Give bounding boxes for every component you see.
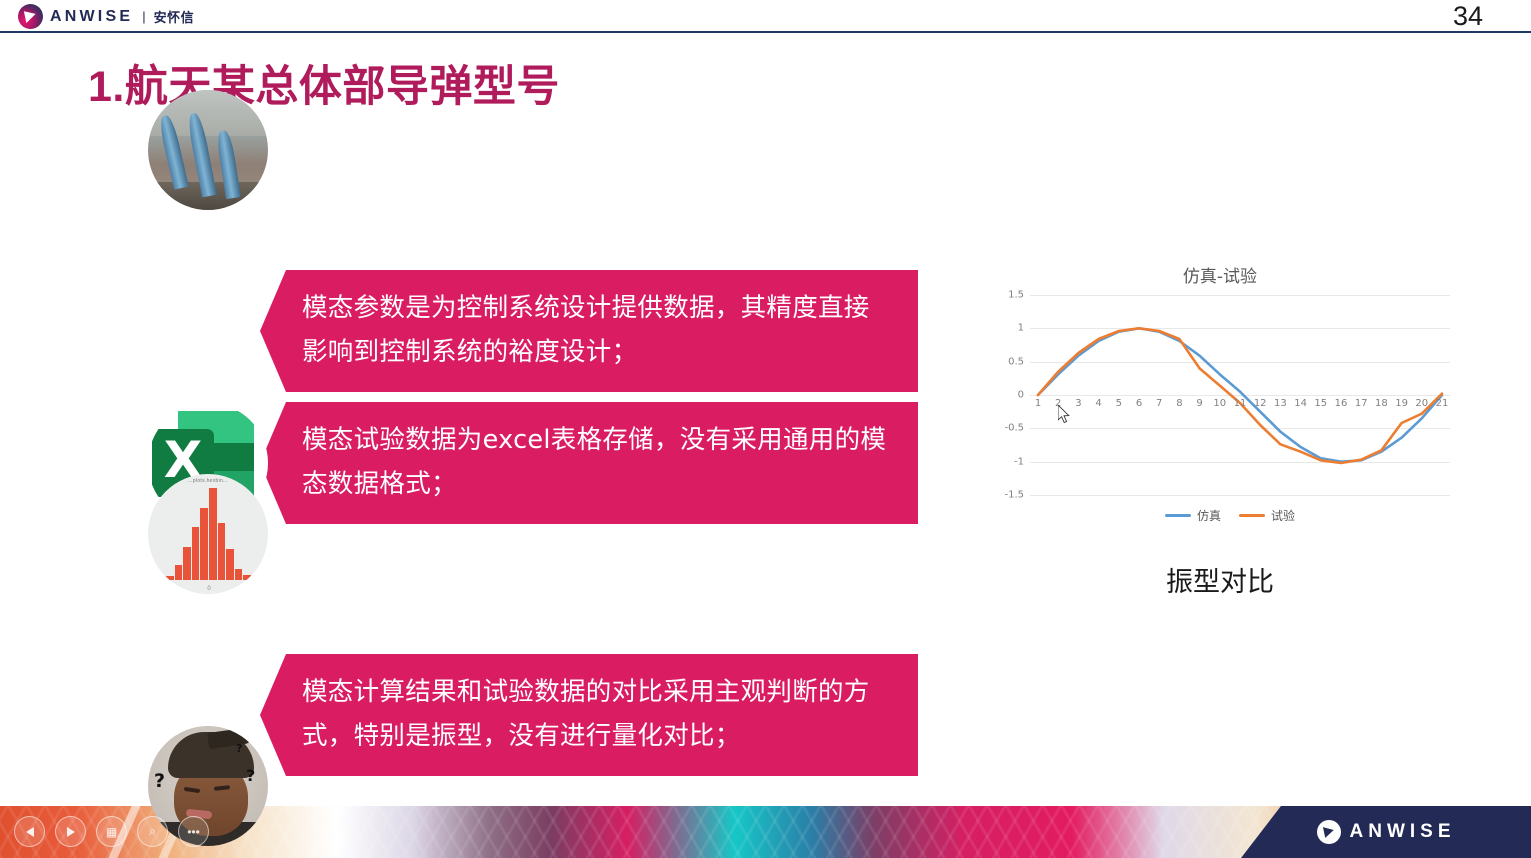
footer-brand: ANWISE [1241, 806, 1531, 858]
legend-swatch [1165, 514, 1191, 517]
histogram-bar [226, 549, 234, 580]
bullet-text: 模态试验数据为excel表格存储，没有采用通用的模态数据格式； [302, 418, 894, 506]
list-item: X 模态试验数据为excel表格存储，没有采用通用的模态数据格式； [148, 402, 918, 524]
histogram-bar [175, 565, 183, 580]
slideshow-button[interactable]: ▦ [96, 816, 127, 847]
chart-x-tick-label: 13 [1274, 398, 1287, 409]
bullet-banner: 模态试验数据为excel表格存储，没有采用通用的模态数据格式； [260, 402, 918, 524]
line-chart: 仿真-试验 1.510.50-0.5-1-1.5 123456789101112… [990, 262, 1450, 532]
chart-y-tick-label: -0.5 [1004, 423, 1024, 434]
bullet-text: 模态参数是为控制系统设计提供数据，其精度直接影响到控制系统的裕度设计； [302, 286, 894, 374]
chart-x-tick-label: 16 [1335, 398, 1348, 409]
legend-swatch [1239, 514, 1265, 517]
chart-legend: 仿真试验 [990, 507, 1450, 524]
histogram-bar [200, 508, 208, 580]
question-mark-icon: ? [154, 770, 165, 792]
chart-x-tick-label: 9 [1196, 398, 1202, 409]
histogram-chart-icon: ...plots.hexbin... -1 0 1 [148, 474, 268, 594]
chart-caption: 振型对比 [990, 560, 1450, 599]
histogram-icon-title: ...plots.hexbin... [148, 478, 268, 484]
missile-photo-icon [148, 90, 268, 210]
chart-series-试验 [1038, 328, 1442, 463]
histogram-bar [218, 523, 226, 580]
chart-x-tick-label: 8 [1176, 398, 1182, 409]
chart-plot-area: 1.510.50-0.5-1-1.5 123456789101112131415… [990, 295, 1450, 495]
legend-item: 试验 [1239, 507, 1295, 524]
bullet-banner: 模态计算结果和试验数据的对比采用主观判断的方式，特别是振型，没有进行量化对比； [260, 654, 918, 776]
mouse-cursor [1058, 405, 1071, 425]
chart-y-tick-label: 1.5 [1008, 290, 1024, 301]
chart-x-tick-label: 19 [1395, 398, 1408, 409]
histogram-bar [192, 527, 200, 580]
presentation-controls[interactable]: ▦ ⌕ ••• [14, 816, 209, 847]
histogram-icon-axis: -1 0 1 [148, 586, 268, 592]
bullet-list: 模态参数是为控制系统设计提供数据，其精度直接影响到控制系统的裕度设计； X 模态… [148, 150, 918, 858]
histogram-bar [243, 575, 251, 580]
chart-x-tick-label: 7 [1156, 398, 1162, 409]
chart-x-tick-label: 17 [1355, 398, 1368, 409]
chart-y-tick-label: -1.5 [1004, 490, 1024, 501]
bullet-banner: 模态参数是为控制系统设计提供数据，其精度直接影响到控制系统的裕度设计； [260, 270, 918, 392]
list-item: ...plots.hexbin... -1 0 1 模态计算结果和试验数据的对比… [148, 534, 918, 776]
chart-x-tick-label: 12 [1254, 398, 1267, 409]
presentation-slide: ANWISE | 安怀信 34 1.航天某总体部导弹型号 模态参数是为控制系统设… [0, 0, 1531, 858]
chart-y-tick-label: 0 [1018, 390, 1024, 401]
list-item: 模态参数是为控制系统设计提供数据，其精度直接影响到控制系统的裕度设计； [148, 150, 918, 392]
more-options-button[interactable]: ••• [178, 816, 209, 847]
header-divider [0, 31, 1531, 33]
chart-y-axis: 1.510.50-0.5-1-1.5 [990, 295, 1024, 495]
legend-item: 仿真 [1165, 507, 1221, 524]
next-slide-button[interactable] [55, 816, 86, 847]
chart-x-tick-label: 3 [1075, 398, 1081, 409]
footer-brand-name: ANWISE [1350, 821, 1456, 843]
brand-separator: | [142, 9, 145, 24]
brand-name-chinese: 安怀信 [154, 7, 195, 26]
legend-label: 仿真 [1197, 507, 1221, 524]
chart-y-tick-label: 0.5 [1008, 356, 1024, 367]
chart-gridline [1030, 495, 1450, 496]
brand-name: ANWISE [50, 8, 133, 26]
slide-header: ANWISE | 安怀信 34 [0, 0, 1531, 33]
page-number: 34 [1453, 1, 1483, 31]
chart-x-tick-label: 10 [1213, 398, 1226, 409]
chart-title: 仿真-试验 [990, 262, 1450, 287]
anwise-logo-icon [1317, 820, 1341, 844]
histogram-bar [183, 547, 191, 580]
chart-x-tick-label: 21 [1436, 398, 1449, 409]
chart-y-tick-label: -1 [1014, 456, 1024, 467]
chart-x-axis: 123456789101112131415161718192021 [1030, 398, 1450, 414]
chart-x-tick-label: 1 [1035, 398, 1041, 409]
chart-x-tick-label: 6 [1136, 398, 1142, 409]
chart-y-tick-label: 1 [1018, 323, 1024, 334]
chart-series-lines [1030, 295, 1450, 495]
zoom-search-button[interactable]: ⌕ [137, 816, 168, 847]
chart-x-tick-label: 11 [1234, 398, 1247, 409]
chart-x-tick-label: 14 [1294, 398, 1307, 409]
bullet-text: 模态计算结果和试验数据的对比采用主观判断的方式，特别是振型，没有进行量化对比； [302, 670, 894, 758]
histogram-bar [235, 569, 243, 580]
chart-x-tick-label: 20 [1415, 398, 1428, 409]
histogram-bar [166, 576, 174, 580]
anwise-logo-icon [18, 4, 43, 29]
question-mark-icon: ? [236, 742, 242, 755]
legend-label: 试验 [1271, 507, 1295, 524]
histogram-bar [209, 488, 217, 580]
chart-x-tick-label: 18 [1375, 398, 1388, 409]
chart-x-tick-label: 4 [1095, 398, 1101, 409]
chart-series-仿真 [1038, 328, 1442, 461]
header-brand: ANWISE | 安怀信 [18, 3, 194, 30]
chart-x-tick-label: 5 [1116, 398, 1122, 409]
previous-slide-button[interactable] [14, 816, 45, 847]
chart-x-tick-label: 15 [1314, 398, 1327, 409]
question-mark-icon: ? [246, 766, 255, 785]
